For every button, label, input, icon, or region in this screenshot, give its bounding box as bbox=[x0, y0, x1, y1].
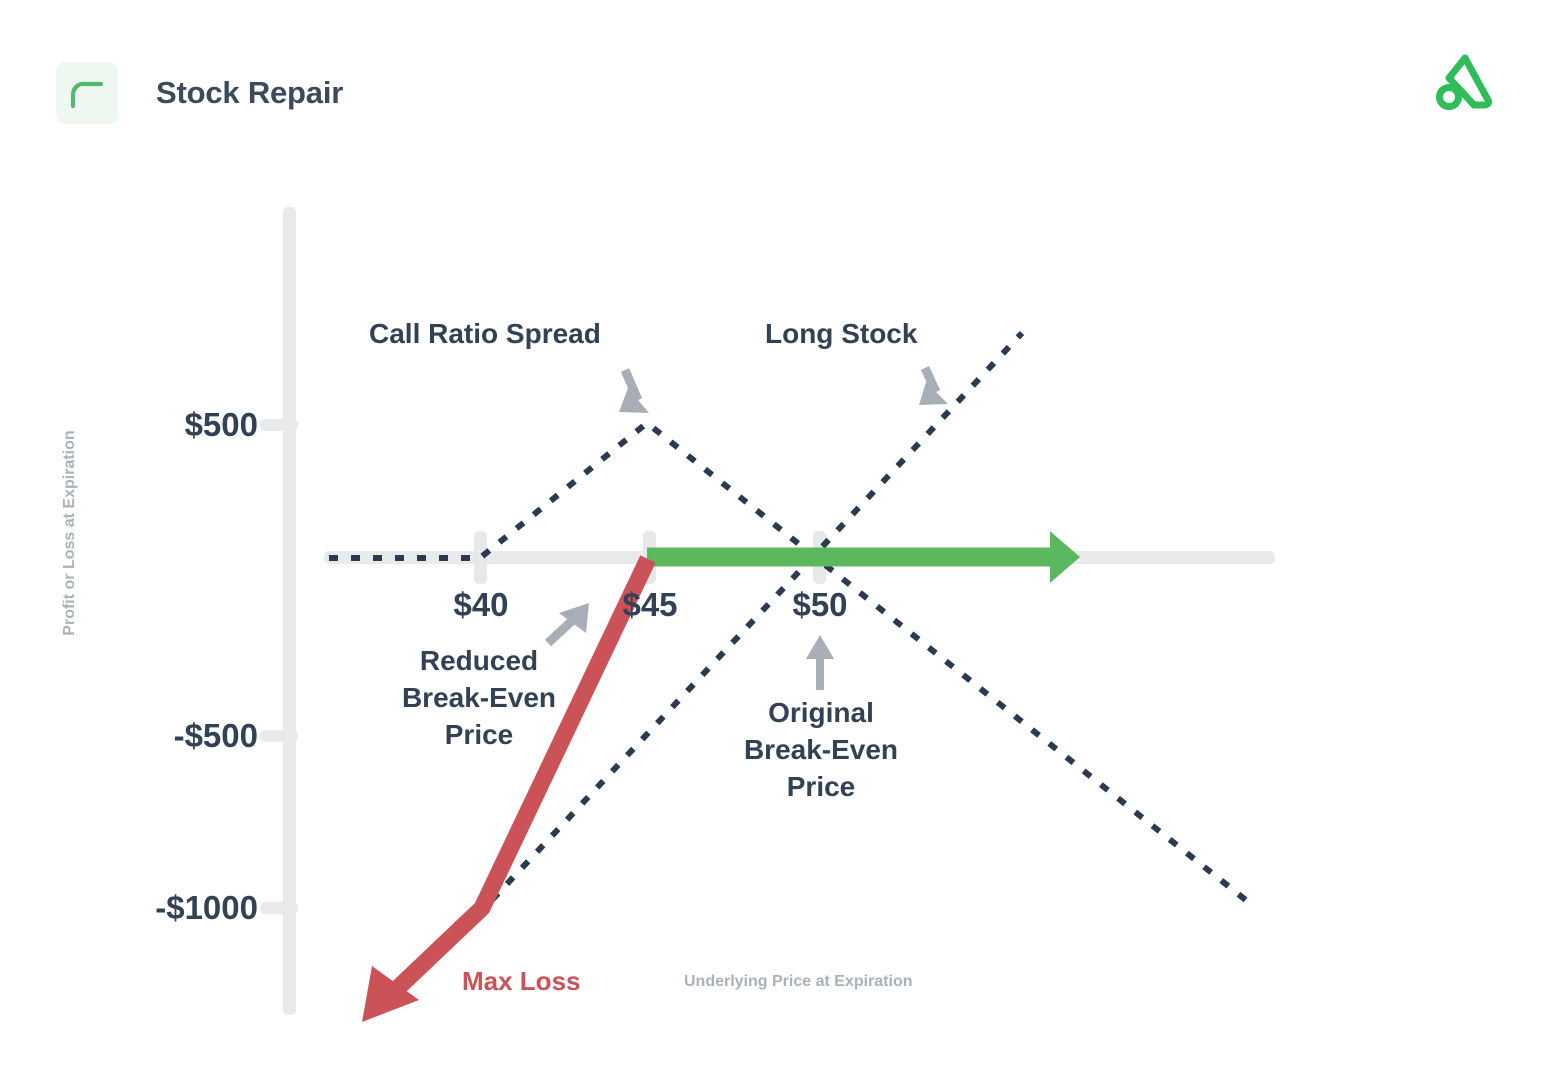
page-header: Stock Repair bbox=[0, 0, 1560, 160]
payoff-diagram: Profit or Loss at Expiration Underlying … bbox=[0, 0, 1560, 1070]
annotation-reduced-break-even-price: Reduced Break-Even Price bbox=[386, 643, 572, 754]
tastytrade-logo-icon bbox=[1428, 48, 1500, 120]
y-tick-label-500: $500 bbox=[58, 406, 258, 444]
annotation-line-1: Reduced bbox=[386, 643, 572, 680]
annotation-line-2: Break-Even bbox=[735, 732, 907, 769]
annotation-arrow-long-stock bbox=[919, 368, 948, 405]
x-axis-title: Underlying Price at Expiration bbox=[684, 973, 913, 991]
page-title: Stock Repair bbox=[156, 75, 343, 111]
y-tick-mark-minus-1000 bbox=[260, 902, 298, 914]
title-group: Stock Repair bbox=[56, 62, 343, 124]
annotation-arrow-original-break-even bbox=[806, 635, 834, 690]
annotation-line-1: Original bbox=[735, 695, 907, 732]
step-curve-icon bbox=[67, 73, 107, 113]
series-repair-loss-leg bbox=[382, 559, 648, 1003]
annotation-line-3: Price bbox=[386, 717, 572, 754]
x-tick-label-40: $40 bbox=[401, 586, 561, 624]
annotation-long-stock: Long Stock bbox=[765, 318, 917, 350]
annotation-max-loss: Max Loss bbox=[462, 966, 581, 997]
annotation-line-3: Price bbox=[735, 769, 907, 806]
y-tick-label-minus-500: -$500 bbox=[58, 717, 258, 755]
x-tick-label-50: $50 bbox=[740, 586, 900, 624]
x-tick-label-45: $45 bbox=[570, 586, 730, 624]
annotation-line-2: Break-Even bbox=[386, 680, 572, 717]
y-tick-mark-500 bbox=[260, 419, 298, 431]
strategy-icon-tile bbox=[56, 62, 118, 124]
annotation-arrow-call-ratio-spread bbox=[619, 370, 649, 413]
annotation-original-break-even-price: Original Break-Even Price bbox=[735, 695, 907, 806]
y-tick-mark-minus-500 bbox=[260, 730, 298, 742]
y-axis-line bbox=[283, 207, 296, 1015]
series-repair-profit-arrowhead bbox=[1050, 531, 1080, 583]
y-tick-label-minus-1000: -$1000 bbox=[58, 889, 258, 927]
annotation-call-ratio-spread: Call Ratio Spread bbox=[369, 318, 601, 350]
